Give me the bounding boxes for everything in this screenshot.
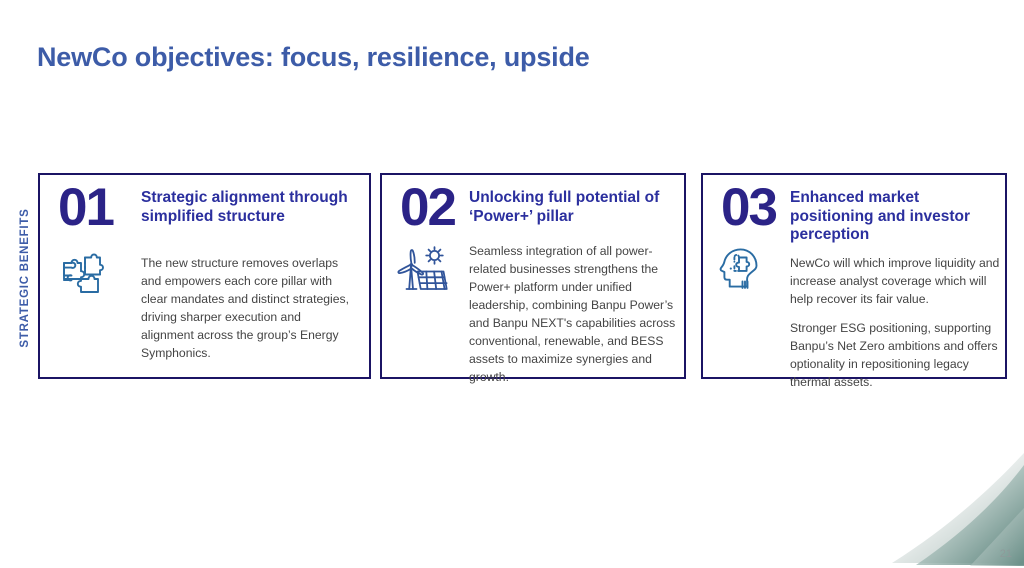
benefit-card-3[interactable]: 03 Enhanced market positioning and inves… xyxy=(701,173,1007,379)
card-body-02: Seamless integration of all power-relate… xyxy=(469,243,681,387)
head-puzzle-brain-icon xyxy=(717,245,765,298)
benefit-card-2[interactable]: 02 Unlocking full potential of ‘Power+’ … xyxy=(380,173,686,379)
puzzle-pieces-icon xyxy=(60,253,104,302)
card-body-01: The new structure removes overlaps and e… xyxy=(141,255,355,363)
benefit-card-1[interactable]: 01 Strategic alignment through simplifie… xyxy=(38,173,371,379)
card-number-02: 02 xyxy=(400,181,455,234)
card-heading-02: Unlocking full potential of ‘Power+’ pil… xyxy=(469,189,681,226)
card-number-01: 01 xyxy=(58,181,113,234)
card-heading-03: Enhanced market positioning and investor… xyxy=(790,189,1002,245)
card-paragraph: Seamless integration of all power-relate… xyxy=(469,243,681,387)
card-body-03: NewCo will which improve liquidity and i… xyxy=(790,255,1004,392)
page-title: NewCo objectives: focus, resilience, ups… xyxy=(37,42,590,73)
card-paragraph: NewCo will which improve liquidity and i… xyxy=(790,255,1004,309)
card-paragraph: The new structure removes overlaps and e… xyxy=(141,255,355,363)
card-heading-01: Strategic alignment through simplified s… xyxy=(141,189,359,226)
card-number-03: 03 xyxy=(721,181,776,234)
wind-turbine-solar-panel-icon xyxy=(396,245,450,300)
strategic-benefits-label: STRATEGIC BENEFITS xyxy=(19,208,31,347)
slide-canvas: NewCo objectives: focus, resilience, ups… xyxy=(0,0,1024,568)
strategic-benefits-label-container: STRATEGIC BENEFITS xyxy=(14,175,36,380)
page-number: 21 xyxy=(1000,548,1012,560)
card-paragraph: Stronger ESG positioning, supporting Ban… xyxy=(790,320,1004,392)
